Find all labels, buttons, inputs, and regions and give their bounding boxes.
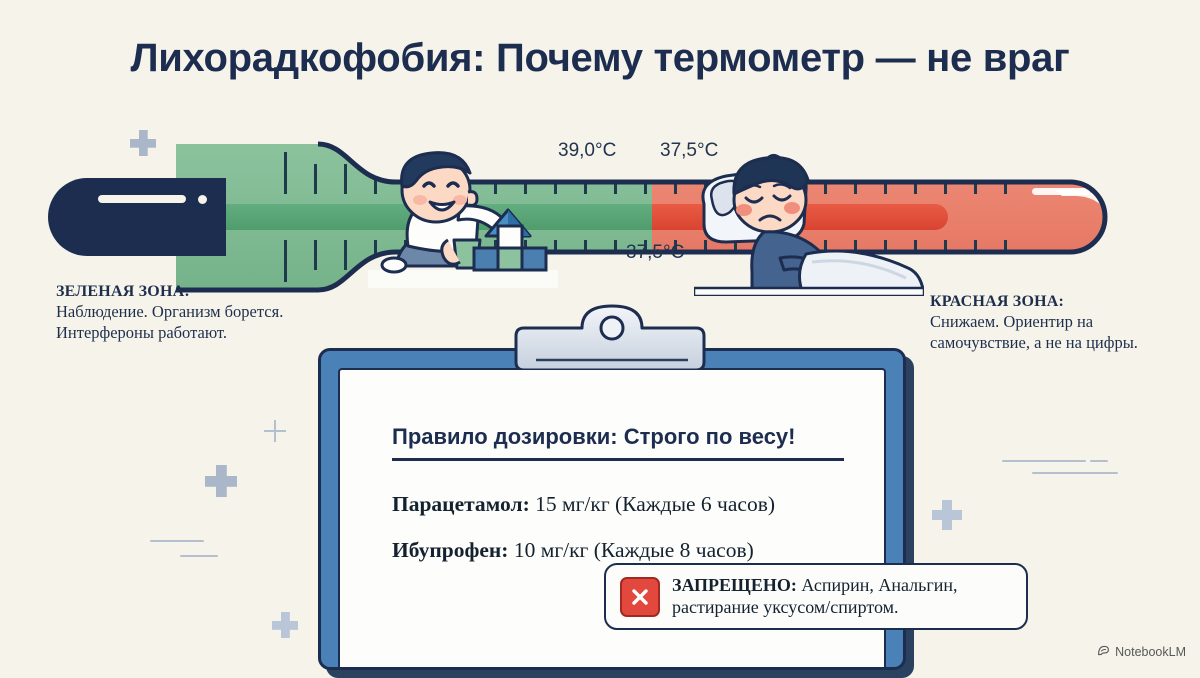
plus-decor-icon: [205, 465, 237, 497]
temp-label-375-top: 37,5°C: [660, 140, 718, 162]
plus-decor-icon: [272, 612, 298, 638]
thermometer-bulb: [48, 178, 226, 256]
bulb-stripe: [98, 195, 186, 203]
dash-decor: [1090, 460, 1108, 462]
watermark-label: NotebookLM: [1115, 645, 1186, 659]
forbidden-text: ЗАПРЕЩЕНО: Аспирин, Анальгин, растирание…: [672, 575, 1012, 618]
dosage-title: Правило дозировки: Строго по весу!: [392, 424, 844, 450]
notebooklm-icon: [1097, 644, 1110, 660]
temp-label-375-bottom: 37,5°C: [626, 242, 684, 264]
dash-decor: [150, 540, 204, 542]
green-zone-body: Наблюдение. Организм борется. Интерферон…: [56, 302, 283, 342]
x-mark-icon: [620, 577, 660, 617]
forbidden-callout: ЗАПРЕЩЕНО: Аспирин, Анальгин, растирание…: [604, 563, 1028, 630]
dose-row: Ибупрофен: 10 мг/кг (Каждые 8 часов): [392, 538, 854, 563]
plus-decor-icon: [932, 500, 962, 530]
green-zone-heading: ЗЕЛЕНАЯ ЗОНА:: [56, 282, 306, 302]
red-zone-caption: КРАСНАЯ ЗОНА: Снижаем. Ориентир на самоч…: [930, 292, 1170, 354]
red-zone-body: Снижаем. Ориентир на самочувствие, а не …: [930, 312, 1138, 352]
dose-detail: 10 мг/кг (Каждые 8 часов): [508, 538, 753, 562]
watermark: NotebookLM: [1097, 644, 1186, 660]
dose-detail: 15 мг/кг (Каждые 6 часов): [530, 492, 775, 516]
dose-row: Парацетамол: 15 мг/кг (Каждые 6 часов): [392, 492, 854, 517]
clipboard-clip: [514, 304, 710, 370]
dose-drug-name: Ибупрофен:: [392, 538, 508, 562]
playing-child-illustration: [368, 148, 558, 288]
temp-label-39: 39,0°C: [558, 140, 616, 162]
green-zone-caption: ЗЕЛЕНАЯ ЗОНА: Наблюдение. Организм борет…: [56, 282, 306, 344]
dose-drug-name: Парацетамол:: [392, 492, 530, 516]
red-zone-heading: КРАСНАЯ ЗОНА:: [930, 292, 1170, 312]
forbidden-label: ЗАПРЕЩЕНО:: [672, 575, 797, 595]
page-title: Лихорадкофобия: Почему термометр — не вр…: [0, 36, 1200, 81]
dash-decor: [1002, 460, 1086, 462]
fever-thermometer: 39,0°C 37,5°C 37,5°C: [56, 138, 1148, 296]
dash-decor: [180, 555, 218, 557]
infographic-canvas: Лихорадкофобия: Почему термометр — не вр…: [0, 0, 1200, 670]
plus-decor-icon: [264, 420, 286, 442]
bulb-dot: [198, 195, 207, 204]
sleeping-child-illustration: [694, 150, 924, 296]
dash-decor: [1032, 472, 1118, 474]
title-divider: [392, 458, 844, 461]
